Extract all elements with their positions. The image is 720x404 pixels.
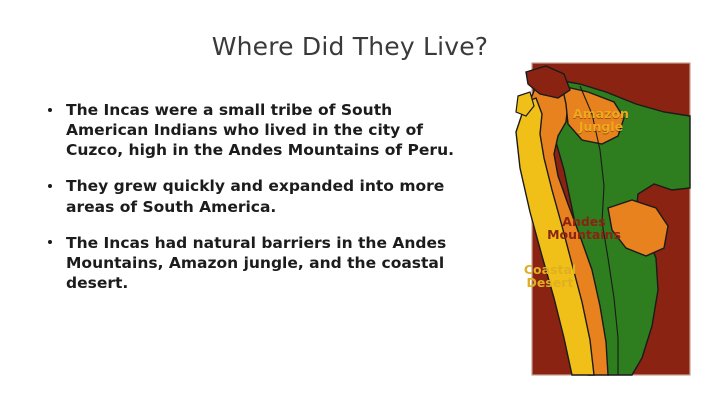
bullet-text: They grew quickly and expanded into more… [66,177,444,215]
bullet-text: The Incas had natural barriers in the An… [66,234,446,292]
list-item: They grew quickly and expanded into more… [44,176,464,216]
bullet-dot-icon [48,240,52,244]
bullet-list: The Incas were a small tribe of South Am… [44,100,464,293]
bullet-dot-icon [48,184,52,188]
slide-canvas: Where Did They Live? The Incas were a sm… [0,0,720,404]
bullet-text: The Incas were a small tribe of South Am… [66,101,454,159]
page-title: Where Did They Live? [0,32,700,61]
south-america-map-image: Amazon Jungle Andes Mountains Coastal De… [496,58,696,380]
bullet-dot-icon [48,108,52,112]
map-svg [496,58,696,380]
list-item: The Incas had natural barriers in the An… [44,233,464,293]
list-item: The Incas were a small tribe of South Am… [44,100,464,160]
